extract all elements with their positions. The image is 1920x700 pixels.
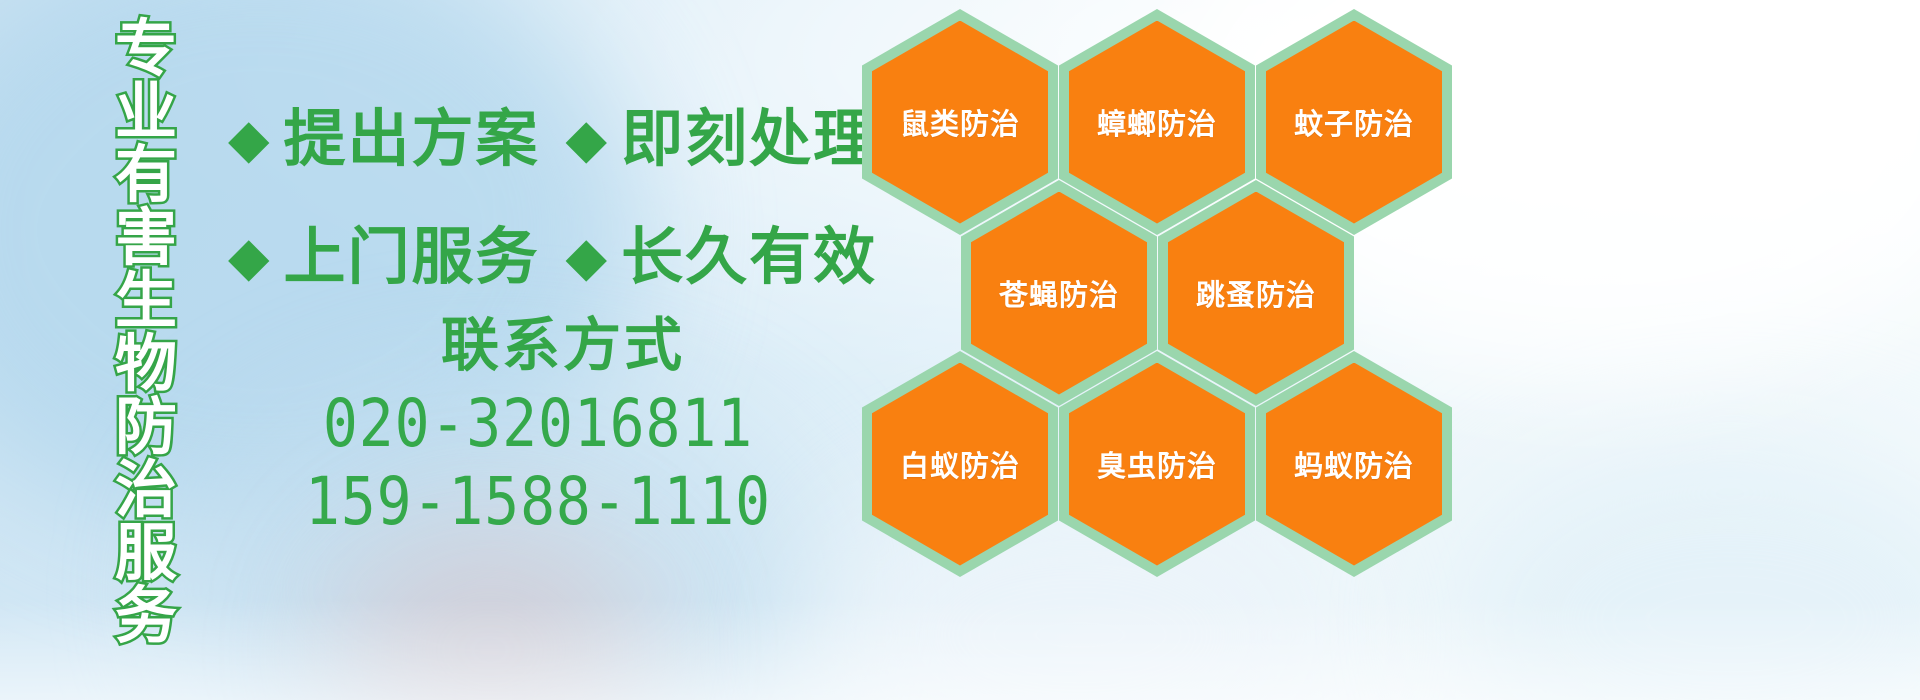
- service-label: 蚊子防治: [1294, 101, 1414, 143]
- banner-canvas: 专 业 有 害 生 物 防 治 服 务 ◆ 提出方案 ◆ 即刻处理 ◆ 上门服务: [0, 0, 1920, 700]
- feature-list: ◆ 提出方案 ◆ 即刻处理 ◆ 上门服务 ◆ 长久有效: [228, 80, 868, 316]
- service-label: 白蚁防治: [900, 443, 1020, 485]
- feature-item-immediate-handling: ◆ 即刻处理: [566, 108, 878, 170]
- contact-block: 联系方式 020-32016811 159-1588-1110: [228, 315, 848, 543]
- diamond-icon: ◆: [228, 230, 270, 284]
- hex-inner: 蚂蚁防治: [1266, 363, 1442, 566]
- vertical-headline-char: 务: [115, 585, 177, 647]
- service-honeycomb: 鼠类防治 蟑螂防治 蚊子防治 苍蝇防治 跳蚤防治 白蚁防治: [862, 0, 1452, 560]
- feature-label: 提出方案: [284, 108, 540, 170]
- hex-inner: 白蚁防治: [872, 363, 1048, 566]
- feature-label: 长久有效: [621, 226, 877, 288]
- hex-inner: 苍蝇防治: [971, 192, 1147, 395]
- service-label: 臭虫防治: [1097, 443, 1217, 485]
- feature-item-onsite-service: ◆ 上门服务: [228, 226, 540, 288]
- hex-inner: 鼠类防治: [872, 21, 1048, 224]
- vertical-headline-char: 业: [115, 81, 177, 143]
- vertical-headline-char: 有: [115, 144, 177, 206]
- hex-inner: 跳蚤防治: [1168, 192, 1344, 395]
- service-label: 鼠类防治: [900, 101, 1020, 143]
- vertical-headline: 专 业 有 害 生 物 防 治 服 务: [104, 18, 188, 578]
- vertical-headline-char: 防: [115, 396, 177, 458]
- vertical-headline-char: 物: [115, 333, 177, 395]
- phone-number-landline[interactable]: 020-32016811: [265, 384, 811, 465]
- vertical-headline-char: 害: [115, 207, 177, 269]
- hex-inner: 蟑螂防治: [1069, 21, 1245, 224]
- feature-item-propose-plan: ◆ 提出方案: [228, 108, 540, 170]
- feature-item-long-lasting: ◆ 长久有效: [566, 226, 878, 288]
- vertical-headline-char: 服: [115, 522, 177, 584]
- service-label: 蟑螂防治: [1097, 101, 1217, 143]
- service-label: 跳蚤防治: [1196, 272, 1316, 314]
- diamond-icon: ◆: [228, 112, 270, 166]
- diamond-icon: ◆: [566, 230, 608, 284]
- hex-inner: 蚊子防治: [1266, 21, 1442, 224]
- hex-inner: 臭虫防治: [1069, 363, 1245, 566]
- vertical-headline-char: 治: [115, 459, 177, 521]
- feature-row: ◆ 上门服务 ◆ 长久有效: [228, 198, 868, 316]
- feature-label: 上门服务: [284, 226, 540, 288]
- background-highlight-streak: [0, 600, 1920, 700]
- vertical-headline-char: 生: [115, 270, 177, 332]
- phone-number-mobile[interactable]: 159-1588-1110: [265, 462, 811, 543]
- feature-row: ◆ 提出方案 ◆ 即刻处理: [228, 80, 868, 198]
- vertical-headline-char: 专: [115, 18, 177, 80]
- service-label: 苍蝇防治: [999, 272, 1119, 314]
- service-label: 蚂蚁防治: [1294, 443, 1414, 485]
- contact-title: 联系方式: [278, 315, 848, 376]
- feature-label: 即刻处理: [621, 108, 877, 170]
- diamond-icon: ◆: [566, 112, 608, 166]
